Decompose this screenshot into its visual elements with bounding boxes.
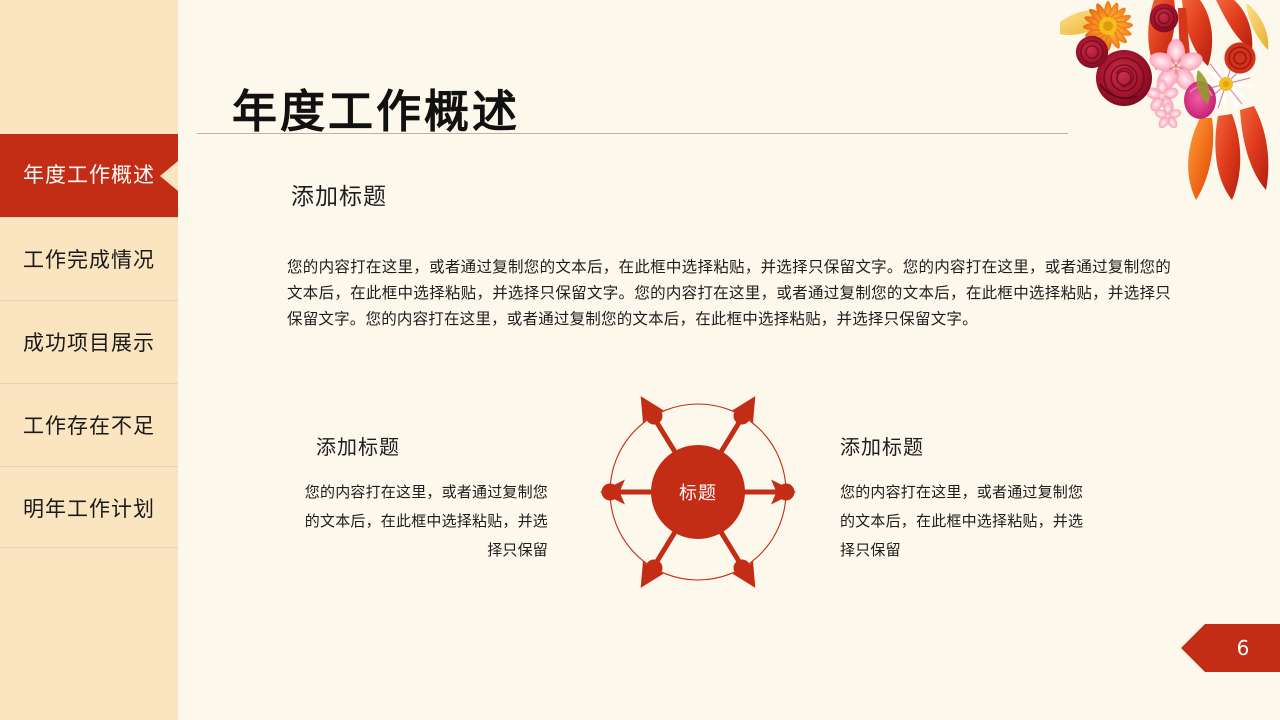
right-callout-heading: 添加标题 [840,437,1088,457]
active-pointer-icon [160,161,178,191]
center-circle[interactable] [651,445,745,539]
sidebar-item-annual-overview[interactable]: 年度工作概述 [0,134,178,217]
ring-node-west[interactable] [602,484,619,501]
sidebar-divider [0,547,178,549]
flower-white-daisy [1201,59,1251,109]
sidebar-item-label: 工作存在不足 [23,416,155,437]
body-paragraph: 您的内容打在这里，或者通过复制您的文本后，在此框中选择粘贴，并选择只保留文字。您… [287,254,1171,332]
flower-red-rose [1076,4,1256,106]
ring-node-northeast[interactable] [734,408,751,425]
flower-orange-daisy [1083,1,1133,51]
sidebar-item-shortcomings[interactable]: 工作存在不足 [0,385,178,468]
slide-canvas: 年度工作概述 工作完成情况 成功项目展示 工作存在不足 明年工作计划 年度工作概… [0,0,1280,720]
sidebar-item-label: 年度工作概述 [23,165,155,186]
page-title: 年度工作概述 [232,86,520,138]
sidebar-item-label: 明年工作计划 [23,499,155,520]
left-callout-heading: 添加标题 [300,437,548,457]
sidebar-nav: 年度工作概述 工作完成情况 成功项目展示 工作存在不足 明年工作计划 [0,0,178,720]
petal-cluster-lower [1188,106,1268,200]
floral-bouquet-decoration [1050,0,1280,205]
ring-node-northwest[interactable] [646,408,663,425]
petal-cluster-upper [1148,0,1252,70]
radial-diagram-svg [590,384,806,600]
sidebar-item-successful-projects[interactable]: 成功项目展示 [0,302,178,385]
page-number-badge: 6 [1181,624,1280,672]
page-number-text: 6 [1181,624,1280,672]
right-callout-body: 您的内容打在这里，或者通过复制您的文本后，在此框中选择粘贴，并选择只保留 [840,478,1088,565]
title-divider-rule [197,133,1068,134]
left-callout-block: 添加标题 您的内容打在这里，或者通过复制您的文本后，在此框中选择粘贴，并选择只保… [300,437,548,565]
leaf-olive [1196,70,1209,104]
flower-magenta-bud [1184,81,1216,119]
leaf-yellow [1060,4,1268,50]
floral-bouquet-svg [1050,0,1280,205]
right-callout-block: 添加标题 您的内容打在这里，或者通过复制您的文本后，在此框中选择粘贴，并选择只保… [840,437,1088,565]
flower-cherry-blossom [1144,39,1205,130]
left-callout-body: 您的内容打在这里，或者通过复制您的文本后，在此框中选择粘贴，并选择只保留 [300,478,548,565]
ring-node-east[interactable] [778,484,795,501]
sidebar-item-label: 成功项目展示 [23,333,155,354]
sidebar-item-next-year-plan[interactable]: 明年工作计划 [0,468,178,551]
ring-node-southwest[interactable] [646,560,663,577]
radial-diagram: 标题 [590,384,806,600]
section-heading: 添加标题 [291,186,387,209]
ring-node-southeast[interactable] [734,560,751,577]
sidebar-item-work-completion[interactable]: 工作完成情况 [0,219,178,302]
sidebar-item-label: 工作完成情况 [23,250,155,271]
